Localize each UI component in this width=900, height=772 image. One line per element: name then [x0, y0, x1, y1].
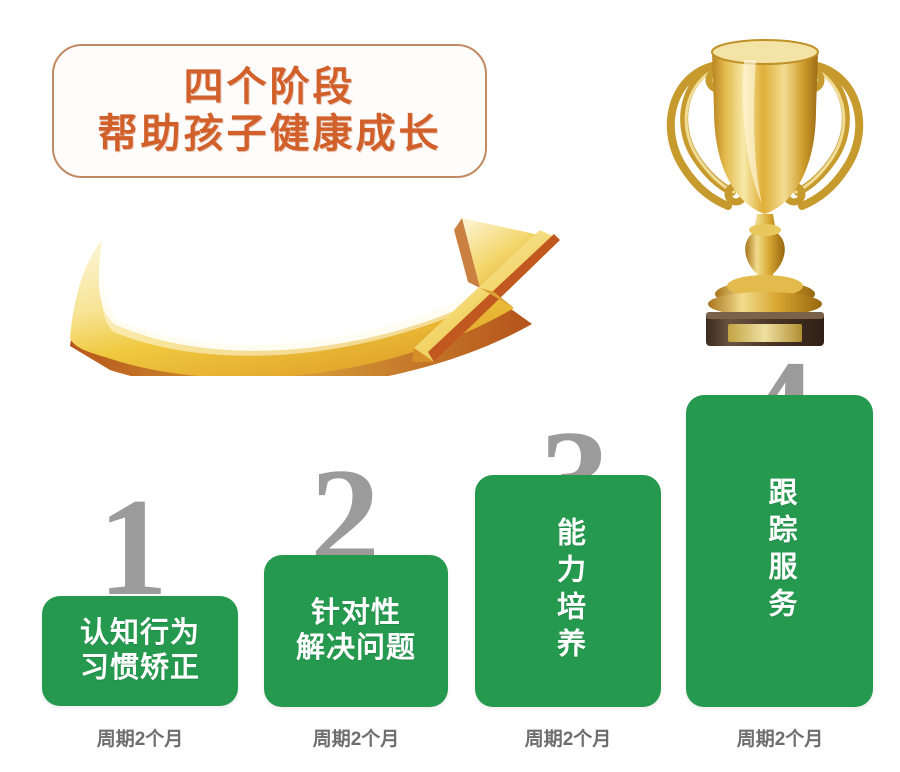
step-label-1-line-1: 认知行为: [80, 616, 200, 651]
step-caption-4: 周期2个月: [680, 724, 880, 751]
title-line-2: 帮助孩子健康成长: [98, 113, 442, 156]
step-label-1: 认知行为 习惯矫正: [80, 616, 200, 687]
step-card-2[interactable]: 针对性 解决问题: [264, 555, 448, 707]
step-caption-3: 周期2个月: [468, 724, 668, 751]
step-label-2-line-1: 针对性: [296, 596, 416, 631]
title-banner: 四个阶段 帮助孩子健康成长: [52, 44, 487, 178]
step-label-2: 针对性 解决问题: [296, 596, 416, 667]
gold-trophy-icon: [640, 18, 890, 348]
step-label-4: 跟踪服务: [765, 477, 794, 625]
step-card-4[interactable]: 跟踪服务: [686, 395, 873, 707]
step-card-1[interactable]: 认知行为 习惯矫正: [42, 596, 238, 706]
curved-gold-arrow-icon: [62, 196, 692, 376]
step-caption-2: 周期2个月: [256, 724, 456, 751]
step-caption-1: 周期2个月: [42, 724, 238, 751]
step-card-3[interactable]: 能力培养: [475, 475, 661, 707]
title-line-1: 四个阶段: [184, 66, 356, 109]
step-label-3: 能力培养: [554, 517, 583, 665]
step-label-1-line-2: 习惯矫正: [80, 651, 200, 686]
step-label-2-line-2: 解决问题: [296, 631, 416, 666]
infographic-canvas: 四个阶段 帮助孩子健康成长: [0, 0, 900, 772]
